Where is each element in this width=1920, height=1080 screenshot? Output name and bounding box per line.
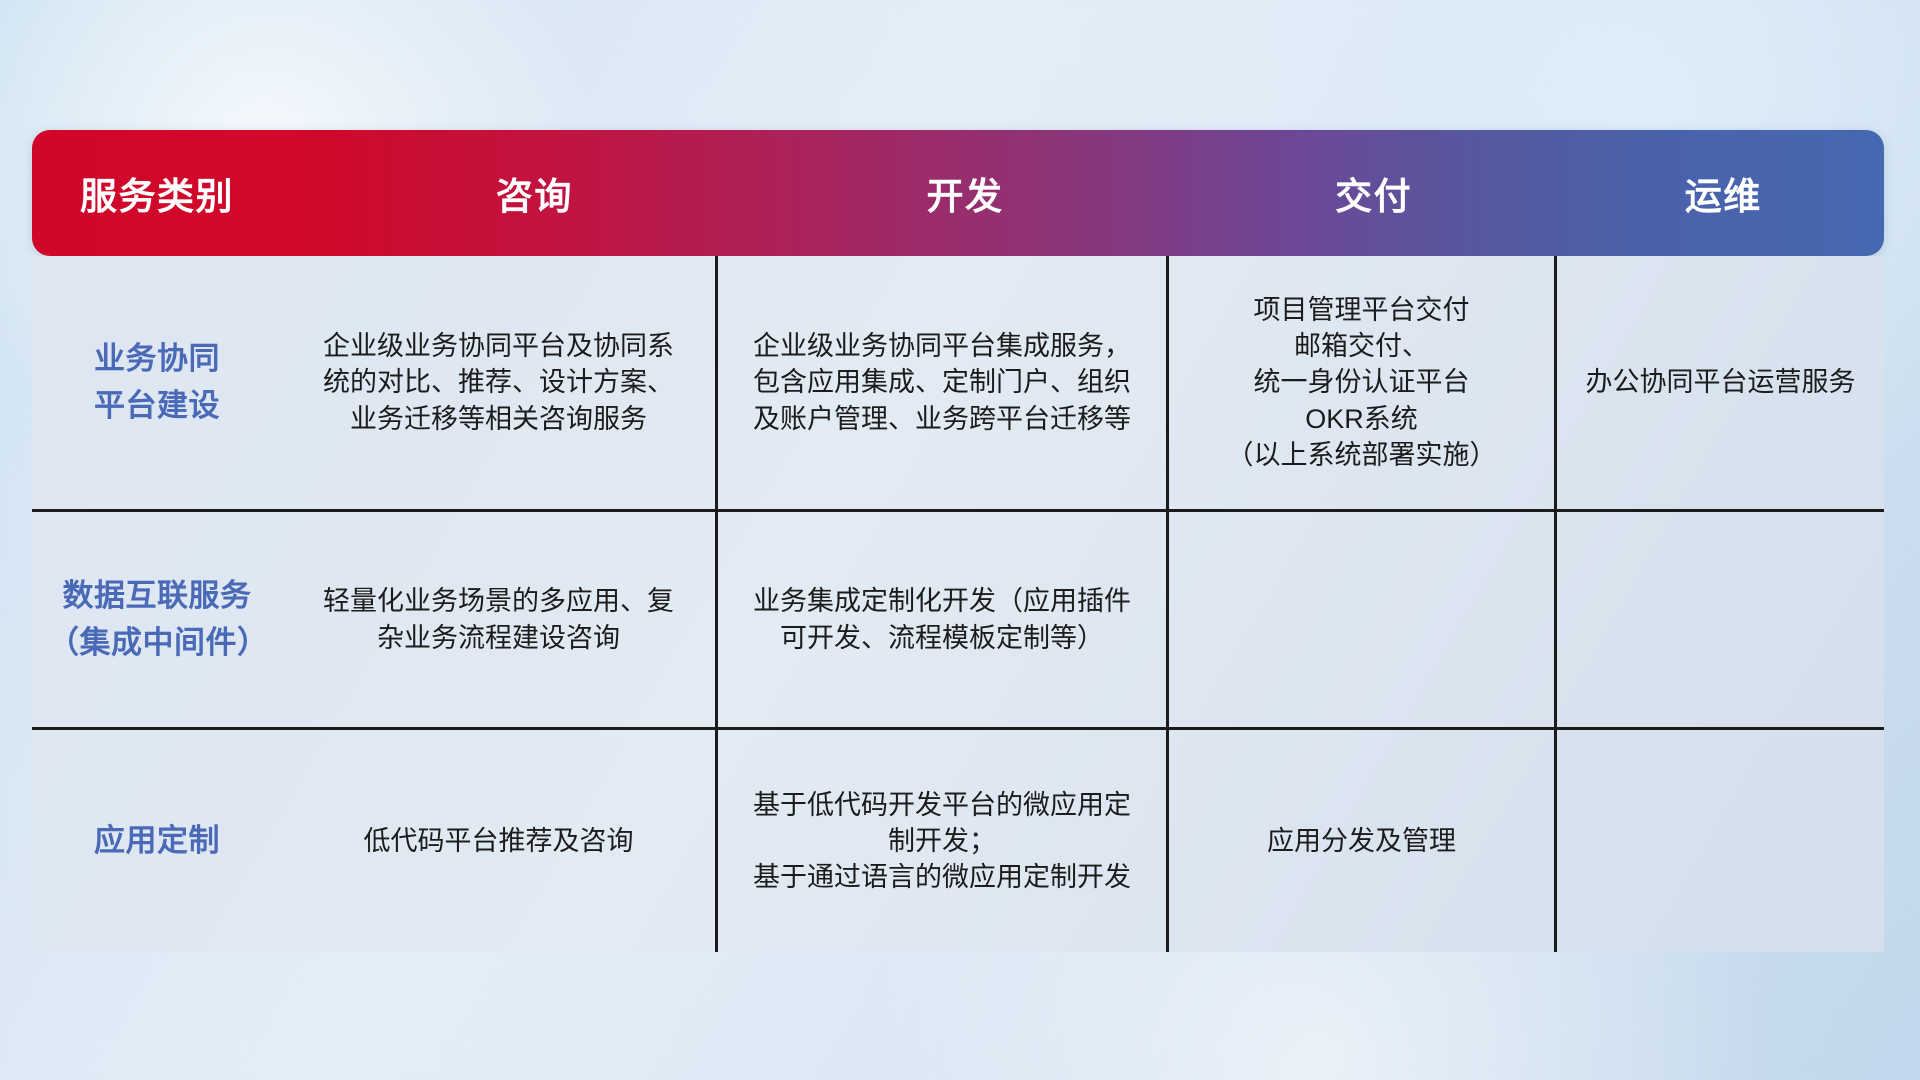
row-category-label: 业务协同 平台建设 [32, 256, 282, 509]
table-row: 业务协同 平台建设 企业级业务协同平台及协同系 统的对比、推荐、设计方案、 业务… [32, 256, 1884, 512]
table-row: 数据互联服务 （集成中间件） 轻量化业务场景的多应用、复 杂业务流程建设咨询 业… [32, 512, 1884, 730]
row-category-label: 应用定制 [32, 730, 282, 952]
cell-consulting: 企业级业务协同平台及协同系 统的对比、推荐、设计方案、 业务迁移等相关咨询服务 [282, 256, 715, 509]
column-header-consulting: 咨询 [324, 130, 746, 256]
cell-consulting: 低代码平台推荐及咨询 [282, 730, 715, 952]
column-header-delivery: 交付 [1185, 130, 1563, 256]
table-row: 应用定制 低代码平台推荐及咨询 基于低代码开发平台的微应用定 制开发； 基于通过… [32, 730, 1884, 952]
cell-consulting: 轻量化业务场景的多应用、复 杂业务流程建设咨询 [282, 512, 715, 727]
table-body: 业务协同 平台建设 企业级业务协同平台及协同系 统的对比、推荐、设计方案、 业务… [32, 256, 1884, 952]
cell-development: 基于低代码开发平台的微应用定 制开发； 基于通过语言的微应用定制开发 [715, 730, 1166, 952]
row-category-label: 数据互联服务 （集成中间件） [32, 512, 282, 727]
column-header-category: 服务类别 [32, 130, 324, 256]
cell-operations: 办公协同平台运营服务 [1554, 256, 1884, 509]
cell-development: 企业级业务协同平台集成服务， 包含应用集成、定制门户、组织 及账户管理、业务跨平… [715, 256, 1166, 509]
cell-operations [1554, 730, 1884, 952]
cell-delivery: 项目管理平台交付 邮箱交付、 统一身份认证平台 OKR系统 （以上系统部署实施） [1166, 256, 1554, 509]
column-header-operations: 运维 [1563, 130, 1884, 256]
column-header-development: 开发 [745, 130, 1184, 256]
table-header-row: 服务类别 咨询 开发 交付 运维 [32, 130, 1884, 256]
cell-delivery: 应用分发及管理 [1166, 730, 1554, 952]
service-matrix-table: 服务类别 咨询 开发 交付 运维 业务协同 平台建设 企业级业务协同平台及协同系… [32, 130, 1884, 952]
cell-development: 业务集成定制化开发（应用插件 可开发、流程模板定制等） [715, 512, 1166, 727]
cell-operations [1554, 512, 1884, 727]
cell-delivery [1166, 512, 1554, 727]
